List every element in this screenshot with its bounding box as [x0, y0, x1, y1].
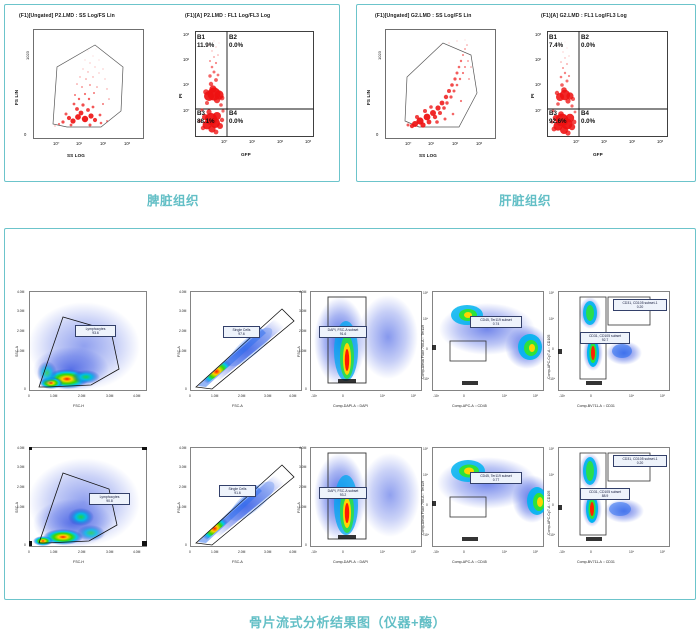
ytick-r2-p1-1: 3.0M — [17, 465, 24, 469]
ytick-r2-p1-0: 4.0M — [17, 446, 24, 450]
xtick-spleen-quad-2: 10² — [277, 139, 283, 144]
ytick-r2-p3-1: 3.0M — [299, 465, 306, 469]
xtick-r2-p2-4: 4.0M — [289, 550, 296, 554]
xtick-r2-p3-2: 10⁴ — [380, 550, 385, 554]
gate-label-r1-lymphocytes[interactable]: Lymphocytes 93.6 — [75, 325, 116, 337]
axis-label-x-spleen-scatter: SS LOG — [67, 153, 85, 158]
gate-name: DAPI, FSC-A subset — [328, 489, 359, 493]
bone-r1-p4-plot — [432, 291, 544, 391]
ytick-r2-p3-0: 4.0M — [299, 446, 306, 450]
axis-label-y-r1-p5: Comp-APC-Cy7-A :: CD105 — [547, 335, 551, 379]
xtick-r1-p5-1: 0 — [590, 394, 592, 398]
quad-label-liver-b1: B1 — [549, 34, 557, 41]
panel-liver-tissue: (F1)[Ungated] G2.LMD : SS Log/FS Lin FS … — [356, 4, 696, 182]
ytick-r1-p1-4: 0 — [24, 387, 26, 391]
bone-r2-p2 — [190, 447, 302, 547]
ytick-r1-p5-2: 0 — [552, 347, 554, 351]
caption-liver-tissue: 肝脏组织 — [499, 190, 551, 209]
axis-label-y-liver-quad: PI — [530, 93, 535, 98]
ytick-r1-p5-1: 10⁴ — [549, 317, 554, 321]
quad-label-liver-b3: B3 — [549, 110, 557, 117]
xtick-r2-p1-4: 4.0M — [133, 550, 140, 554]
quad-value-liver-b4: 0.0% — [581, 118, 595, 125]
xtick-liver-scatter-3: 10³ — [476, 141, 482, 146]
gate-name: CD31, CD105 subset-1 — [622, 457, 657, 461]
bone-r2-p4-plot — [432, 447, 544, 547]
xtick-r1-p5-2: 10⁴ — [629, 394, 634, 398]
xtick-r1-p1-0: 0 — [28, 394, 30, 398]
liver-scatter-plot — [385, 29, 497, 139]
ytick-r1-p2-4: 0 — [185, 387, 187, 391]
panel-bone-flow-analysis: Lymphocytes 93.6 SSC-A FSC-H 4.0M 3.0M 2… — [4, 228, 696, 600]
ytick-liver-quad-3: 10³ — [535, 32, 541, 37]
ytick-spleen-scatter-0: 0 — [24, 132, 26, 137]
xtick-r1-p3-2: 10⁴ — [380, 394, 385, 398]
bone-r1-p3-plot — [310, 291, 422, 391]
ytick-r1-p5-3: -10⁴ — [549, 377, 555, 381]
xtick-r1-p4-3: 10⁵ — [533, 394, 538, 398]
xtick-r1-p2-1: 1.0M — [211, 394, 218, 398]
ytick-r2-p1-3: 1.0M — [17, 505, 24, 509]
xtick-r1-p3-0: -10³ — [311, 394, 317, 398]
ytick-r1-p4-3: -10⁴ — [423, 377, 429, 381]
xtick-r2-p2-0: 0 — [189, 550, 191, 554]
ytick-r1-p2-1: 3.0M — [179, 309, 186, 313]
ytick-r2-p1-2: 2.0M — [17, 485, 24, 489]
axis-label-x-r1-p3: Comp-DAPI-A :: DAPI — [333, 404, 368, 408]
xtick-r2-p1-0: 0 — [28, 550, 30, 554]
gate-label-r2-cd45-ter119[interactable]: CD45, Ter119 subset 0.77 — [470, 472, 522, 484]
xtick-r2-p4-0: -10³ — [433, 550, 439, 554]
xtick-r2-p1-3: 3.0M — [106, 550, 113, 554]
xtick-liver-quad-0: 10⁰ — [573, 139, 579, 144]
gate-name: CD31, CD105 subset — [589, 334, 621, 338]
bone-r1-p1 — [29, 291, 147, 391]
xtick-spleen-scatter-0: 10⁰ — [53, 141, 59, 146]
ytick-r1-p2-3: 1.0M — [179, 349, 186, 353]
ytick-r1-p1-3: 1.0M — [17, 349, 24, 353]
ytick-r2-p3-4: 0 — [305, 543, 307, 547]
axis-label-y-spleen-scatter: FS LIN — [14, 90, 19, 105]
quad-label-spleen-b4: B4 — [229, 110, 237, 117]
ytick-r1-p5-0: 10⁵ — [549, 291, 554, 295]
ytick-r1-p3-0: 4.0M — [299, 290, 306, 294]
axis-label-x-r2-p3: Comp-DAPI-A :: DAPI — [333, 560, 368, 564]
xtick-r2-p3-0: -10³ — [311, 550, 317, 554]
xtick-spleen-scatter-2: 10² — [100, 141, 106, 146]
quad-value-spleen-b1: 11.9% — [197, 42, 214, 49]
xtick-liver-quad-2: 10² — [629, 139, 635, 144]
quad-value-spleen-b2: 0.0% — [229, 42, 243, 49]
gate-name: Single Cells — [229, 487, 247, 491]
ytick-r1-p3-2: 2.0M — [299, 329, 306, 333]
xtick-spleen-scatter-3: 10³ — [124, 141, 130, 146]
xtick-r1-p5-3: 10⁵ — [660, 394, 665, 398]
xtick-r1-p3-1: 0 — [342, 394, 344, 398]
xtick-r2-p3-1: 0 — [342, 550, 344, 554]
xtick-r1-p5-0: -10³ — [559, 394, 565, 398]
xtick-r2-p4-3: 10⁵ — [533, 550, 538, 554]
ytick-liver-scatter-1023: 1023 — [377, 51, 382, 60]
xtick-spleen-quad-0: 10⁰ — [221, 139, 227, 144]
gate-value: 93.6 — [78, 331, 114, 335]
ytick-r2-p2-4: 0 — [185, 543, 187, 547]
ytick-r2-p2-1: 3.0M — [179, 465, 186, 469]
xtick-r2-p5-2: 10⁴ — [629, 550, 634, 554]
caption-bone-flow-analysis: 骨片流式分析结果图（仪器+酶） — [249, 612, 446, 631]
quad-label-liver-b4: B4 — [581, 110, 589, 117]
ytick-spleen-quad-3: 10³ — [183, 32, 189, 37]
ytick-r2-p4-2: 0 — [426, 503, 428, 507]
xtick-r1-p1-3: 3.0M — [106, 394, 113, 398]
xtick-r1-p2-2: 2.0M — [238, 394, 245, 398]
axis-label-y-r2-p4: Comp-Alexa Fluor 700-A :: Ter119 — [421, 481, 425, 535]
xtick-r1-p1-1: 1.0M — [50, 394, 57, 398]
gate-label-r2-lymphocytes[interactable]: Lymphocytes 90.8 — [89, 493, 130, 505]
gate-value: 0.20 — [616, 461, 665, 465]
axis-label-y-spleen-quad: PI — [178, 93, 183, 98]
gate-label-r1-dapi-subset[interactable]: DAPI, FSC-A subset 91.6 — [319, 326, 367, 338]
gate-value: 0.77 — [473, 478, 520, 482]
xtick-r1-p3-3: 10⁵ — [411, 394, 416, 398]
ytick-r2-p5-1: 10⁴ — [549, 473, 554, 477]
axis-label-x-r2-p1: FSC-H — [73, 560, 84, 564]
plot-title-spleen-scatter: (F1)[Ungated] P2.LMD : SS Log/FS Lin — [19, 13, 115, 19]
axis-label-x-r2-p4: Comp-APC-A :: CD45 — [452, 560, 487, 564]
xtick-r2-p2-2: 2.0M — [238, 550, 245, 554]
axis-label-x-r2-p5: Comp-BV711-A :: CD31 — [577, 560, 615, 564]
ytick-r1-p3-1: 3.0M — [299, 309, 306, 313]
axis-label-x-liver-quad: GFP — [593, 152, 603, 157]
ytick-r2-p3-2: 2.0M — [299, 485, 306, 489]
gate-label-r1-cd31-cd105-subset1[interactable]: CD31, CD105 subset-1 0.20 — [613, 299, 667, 311]
ytick-r2-p4-0: 10⁵ — [423, 447, 428, 451]
ytick-r2-p3-3: 1.0M — [299, 505, 306, 509]
gate-value: 0.20 — [616, 305, 665, 309]
xtick-r2-p1-2: 2.0M — [78, 550, 85, 554]
quad-value-liver-b2: 0.0% — [581, 42, 595, 49]
plot-title-spleen-quad: (F1)[A] P2.LMD : FL1 Log/FL3 Log — [185, 13, 270, 19]
ytick-r1-p1-0: 4.0M — [17, 290, 24, 294]
xtick-r1-p2-0: 0 — [189, 394, 191, 398]
xtick-r1-p2-4: 4.0M — [289, 394, 296, 398]
gate-value: 97.6 — [226, 332, 258, 336]
gate-label-r1-cd31-cd105-subset[interactable]: CD31, CD105 subset 92.7 — [580, 332, 630, 344]
gate-name: Lymphocytes — [86, 327, 106, 331]
xtick-liver-scatter-1: 10¹ — [428, 141, 434, 146]
gate-value: 88.9 — [583, 494, 628, 498]
gate-name: DAPI, FSC-A subset — [328, 328, 359, 332]
ytick-r1-p3-4: 0 — [305, 387, 307, 391]
ytick-r2-p4-3: -10⁴ — [423, 533, 429, 537]
ytick-spleen-quad-0: 10⁰ — [183, 108, 189, 113]
gate-label-r2-cd31-cd105-subset[interactable]: CD31, CD105 subset 88.9 — [580, 488, 630, 500]
ytick-r2-p1-4: 0 — [24, 543, 26, 547]
ytick-r1-p1-2: 2.0M — [17, 329, 24, 333]
axis-label-x-r1-p1: FSC-H — [73, 404, 84, 408]
ytick-r2-p2-2: 2.0M — [179, 485, 186, 489]
gate-label-r1-single-cells[interactable]: Single Cells 97.6 — [223, 326, 260, 338]
gate-label-r2-dapi-subset[interactable]: DAPI, FSC-A subset 93.2 — [319, 487, 367, 499]
gate-label-r1-cd45-ter119[interactable]: CD45, Ter119 subset 0.74 — [470, 316, 522, 328]
ytick-r1-p4-2: 0 — [426, 347, 428, 351]
ytick-r2-p2-0: 4.0M — [179, 446, 186, 450]
xtick-r1-p4-1: 0 — [463, 394, 465, 398]
axis-label-x-spleen-quad: GFP — [241, 152, 251, 157]
gate-value: 91.6 — [222, 491, 254, 495]
xtick-spleen-quad-3: 10³ — [305, 139, 311, 144]
spleen-scatter-plot — [33, 29, 145, 139]
axis-label-y-r1-p4: Comp-Alexa Fluor 700-A :: Ter119 — [421, 325, 425, 379]
axis-label-x-liver-scatter: SS LOG — [419, 153, 437, 158]
quad-label-spleen-b1: B1 — [197, 34, 205, 41]
bone-r1-p2-plot — [190, 291, 302, 391]
quad-label-liver-b2: B2 — [581, 34, 589, 41]
ytick-r1-p4-0: 10⁵ — [423, 291, 428, 295]
gate-name: CD45, Ter119 subset — [480, 318, 512, 322]
xtick-liver-scatter-2: 10² — [452, 141, 458, 146]
axis-label-y-liver-scatter: FS LIN — [366, 90, 371, 105]
xtick-r2-p1-1: 1.0M — [50, 550, 57, 554]
ytick-liver-quad-2: 10² — [535, 57, 541, 62]
xtick-r1-p1-2: 2.0M — [78, 394, 85, 398]
ytick-r1-p1-1: 3.0M — [17, 309, 24, 313]
bone-r1-p2 — [190, 291, 302, 391]
plot-title-liver-quad: (F1)[A] G2.LMD : FL1 Log/FL3 Log — [541, 13, 627, 19]
axis-label-x-r1-p4: Comp-APC-A :: CD45 — [452, 404, 487, 408]
xtick-r2-p5-0: -10³ — [559, 550, 565, 554]
ytick-r1-p3-3: 1.0M — [299, 349, 306, 353]
bone-r2-p4 — [432, 447, 544, 547]
gate-label-r2-single-cells[interactable]: Single Cells 91.6 — [219, 485, 256, 497]
xtick-spleen-quad-1: 10¹ — [249, 139, 255, 144]
gate-name: Lymphocytes — [100, 495, 120, 499]
ytick-r2-p5-3: -10⁴ — [549, 533, 555, 537]
xtick-spleen-scatter-1: 10¹ — [76, 141, 82, 146]
ytick-liver-scatter-0: 0 — [376, 132, 378, 137]
gate-name: CD31, CD105 subset — [589, 490, 621, 494]
quad-value-liver-b3: 92.6% — [549, 118, 567, 125]
gate-value: 0.74 — [473, 322, 520, 326]
quad-label-spleen-b2: B2 — [229, 34, 237, 41]
xtick-liver-quad-1: 10¹ — [601, 139, 607, 144]
bone-r2-p2-plot — [190, 447, 302, 547]
ytick-r2-p4-1: 10⁴ — [423, 473, 428, 477]
xtick-r2-p4-1: 0 — [463, 550, 465, 554]
ytick-r2-p5-2: 0 — [552, 503, 554, 507]
ytick-r1-p2-2: 2.0M — [179, 329, 186, 333]
ytick-r1-p4-1: 10⁴ — [423, 317, 428, 321]
gate-name: Single Cells — [233, 328, 251, 332]
axis-label-x-r1-p5: Comp-BV711-A :: CD31 — [577, 404, 615, 408]
ytick-r2-p5-0: 10⁵ — [549, 447, 554, 451]
xtick-r1-p1-4: 4.0M — [133, 394, 140, 398]
ytick-r2-p2-3: 1.0M — [179, 505, 186, 509]
bone-r1-p4 — [432, 291, 544, 391]
quad-value-liver-b1: 7.4% — [549, 42, 563, 49]
ytick-liver-quad-1: 10¹ — [535, 82, 541, 87]
xtick-r1-p4-0: -10³ — [433, 394, 439, 398]
gate-value: 90.8 — [92, 499, 128, 503]
gate-name: CD45, Ter119 subset — [480, 474, 512, 478]
ytick-spleen-scatter-1023: 1023 — [25, 51, 30, 60]
xtick-r2-p2-1: 1.0M — [211, 550, 218, 554]
ytick-spleen-quad-2: 10² — [183, 57, 189, 62]
quad-value-spleen-b3: 88.1% — [197, 118, 215, 125]
gate-value: 93.2 — [322, 493, 365, 497]
xtick-r2-p5-3: 10⁵ — [660, 550, 665, 554]
xtick-r1-p4-2: 10⁴ — [502, 394, 507, 398]
quad-value-spleen-b4: 0.0% — [229, 118, 243, 125]
ytick-spleen-quad-1: 10¹ — [183, 82, 189, 87]
ytick-liver-quad-0: 10⁰ — [535, 108, 541, 113]
gate-name: CD31, CD105 subset-1 — [622, 301, 657, 305]
xtick-liver-quad-3: 10³ — [657, 139, 663, 144]
plot-title-liver-scatter: (F1)[Ungated] G2.LMD : SS Log/FS Lin — [375, 13, 471, 19]
quad-label-spleen-b3: B3 — [197, 110, 205, 117]
axis-label-y-r2-p5: Comp-APC-Cy7-A :: CD105 — [547, 491, 551, 535]
xtick-r2-p3-3: 10⁵ — [411, 550, 416, 554]
bone-r1-p1-plot — [29, 291, 147, 391]
gate-value: 92.7 — [583, 338, 628, 342]
xtick-r2-p4-2: 10⁴ — [502, 550, 507, 554]
ytick-r1-p2-0: 4.0M — [179, 290, 186, 294]
gate-label-r2-cd31-cd105-subset1[interactable]: CD31, CD105 subset-1 0.20 — [613, 455, 667, 467]
gate-value: 91.6 — [322, 332, 365, 336]
bone-r1-p3 — [310, 291, 422, 391]
panel-spleen-tissue: (F1)[Ungated] P2.LMD : SS Log/FS Lin FS … — [4, 4, 340, 182]
axis-label-x-r2-p2: FSC-A — [232, 560, 243, 564]
xtick-liver-scatter-0: 10⁰ — [405, 141, 411, 146]
caption-spleen-tissue: 脾脏组织 — [147, 190, 199, 209]
xtick-r1-p2-3: 3.0M — [264, 394, 271, 398]
xtick-r2-p2-3: 3.0M — [264, 550, 271, 554]
xtick-r2-p5-1: 0 — [590, 550, 592, 554]
axis-label-x-r1-p2: FSC-A — [232, 404, 243, 408]
